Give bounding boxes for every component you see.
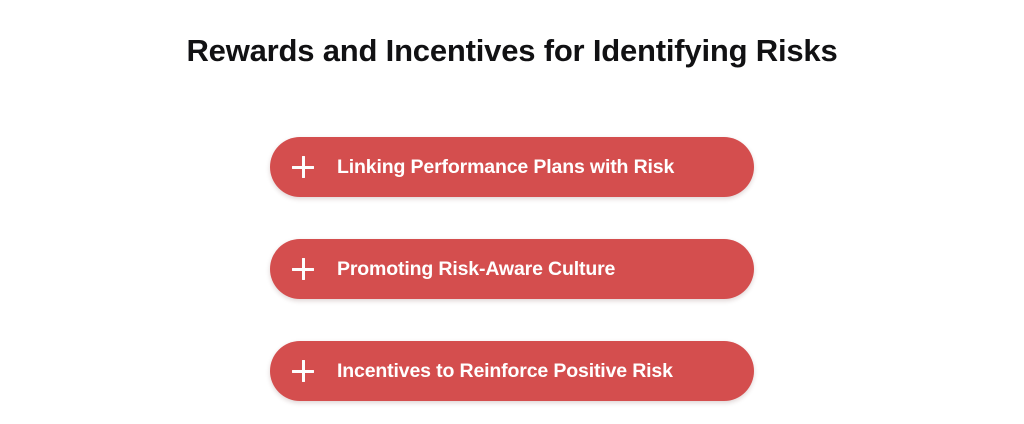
plus-icon[interactable] [291,359,315,383]
page-title: Rewards and Incentives for Identifying R… [0,32,1024,70]
plus-icon[interactable] [291,155,315,179]
plus-icon[interactable] [291,257,315,281]
accordion-list: Linking Performance Plans with Risk Prom… [270,137,754,401]
accordion-item-label: Incentives to Reinforce Positive Risk [337,359,673,383]
accordion-item-linking-performance-plans-with-risk[interactable]: Linking Performance Plans with Risk [270,137,754,197]
accordion-item-label: Linking Performance Plans with Risk [337,155,674,179]
accordion-item-promoting-risk-aware-culture[interactable]: Promoting Risk-Aware Culture [270,239,754,299]
accordion-item-incentives-to-reinforce-positive-risk[interactable]: Incentives to Reinforce Positive Risk [270,341,754,401]
page-root: Rewards and Incentives for Identifying R… [0,0,1024,424]
accordion-item-label: Promoting Risk-Aware Culture [337,257,615,281]
